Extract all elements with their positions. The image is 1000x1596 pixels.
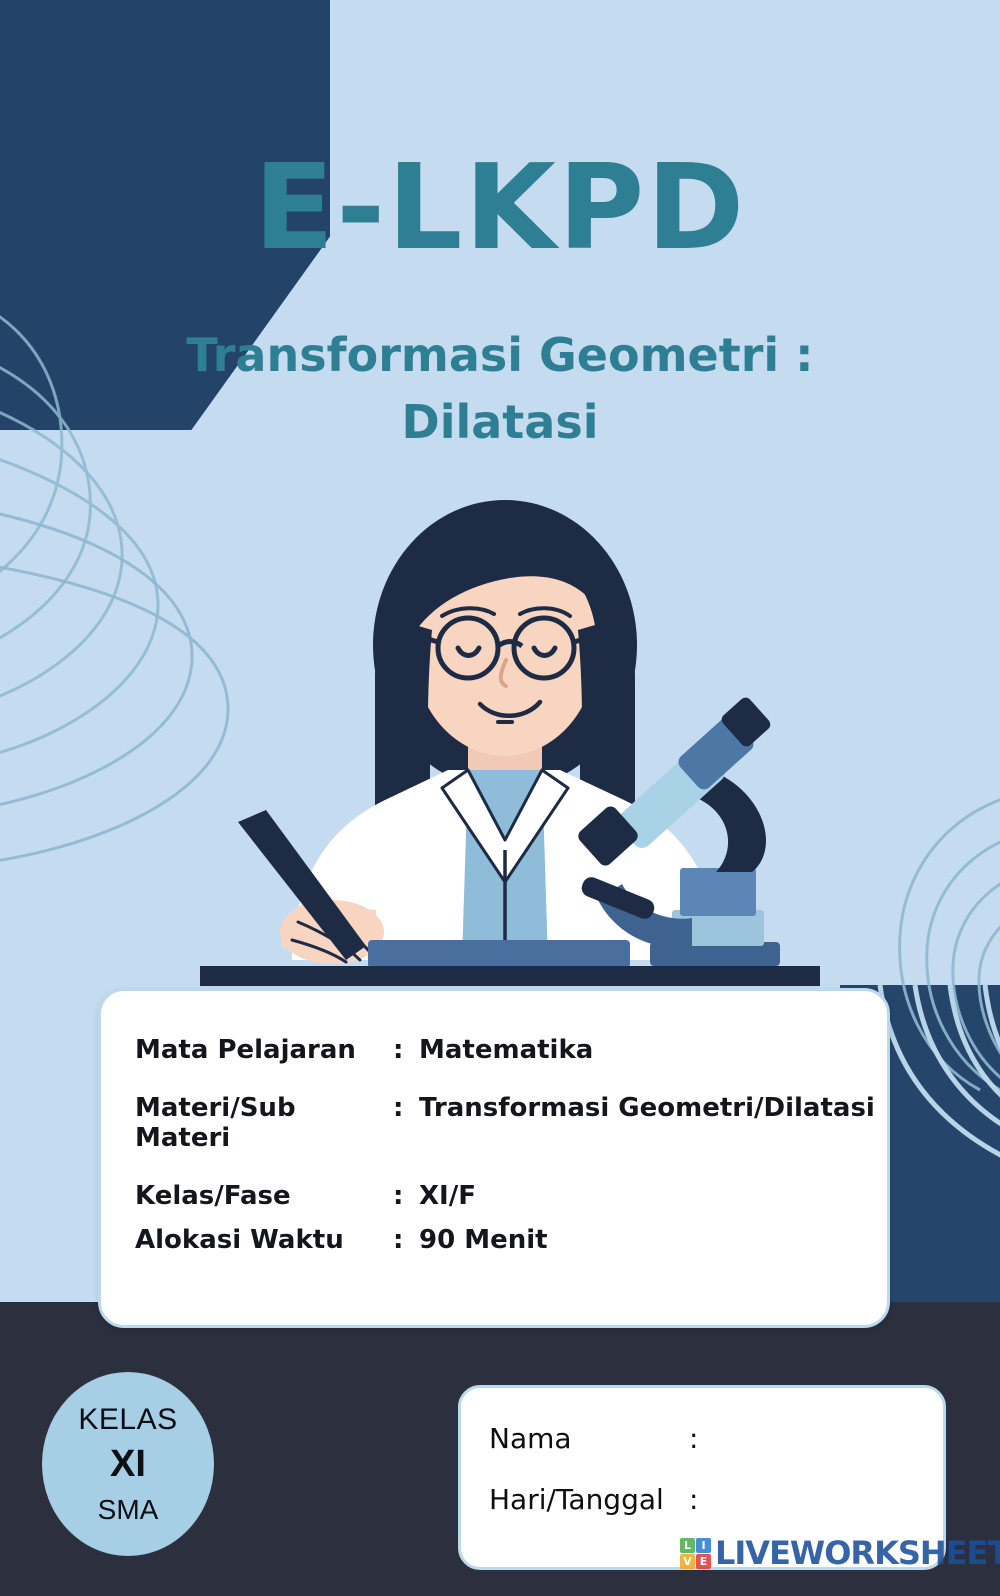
liveworksheets-watermark: L I V E LIVEWORKSHEETS xyxy=(680,1536,1000,1570)
info-row-subject: Mata Pelajaran : Matematika xyxy=(135,1035,853,1065)
info-label-class: Kelas/Fase xyxy=(135,1181,393,1211)
logo-tile-v: V xyxy=(680,1554,695,1569)
class-badge-school-type: SMA xyxy=(98,1494,159,1526)
liveworksheets-wordmark: LIVEWORKSHEETS xyxy=(715,1534,1000,1572)
student-row-name: Nama : xyxy=(489,1422,943,1455)
info-colon-duration: : xyxy=(393,1225,419,1255)
logo-tile-i: I xyxy=(696,1538,711,1553)
info-value-material: Transformasi Geometri/Dilatasi xyxy=(419,1093,875,1123)
logo-tile-e: E xyxy=(696,1554,711,1569)
class-level-badge: KELAS XI SMA xyxy=(42,1372,214,1556)
info-row-duration: Alokasi Waktu : 90 Menit xyxy=(135,1225,853,1255)
info-colon-class: : xyxy=(393,1181,419,1211)
student-label-date: Hari/Tanggal xyxy=(489,1483,689,1516)
logo-tile-l: L xyxy=(680,1538,695,1553)
info-row-class: Kelas/Fase : XI/F xyxy=(135,1181,853,1211)
info-label-material: Materi/Sub Materi xyxy=(135,1093,393,1153)
worksheet-cover-page: E-LKPD Transformasi Geometri : Dilatasi xyxy=(0,0,1000,1596)
info-colon-material: : xyxy=(393,1093,419,1123)
class-badge-top-label: KELAS xyxy=(78,1403,177,1437)
page-title: E-LKPD xyxy=(0,148,1000,266)
student-label-name: Nama xyxy=(489,1422,689,1455)
lesson-info-card: Mata Pelajaran : Matematika Materi/Sub M… xyxy=(98,988,890,1328)
student-colon-date: : xyxy=(689,1483,698,1516)
page-subtitle: Transformasi Geometri : Dilatasi xyxy=(60,322,940,455)
page-subtitle-line-2: Dilatasi xyxy=(60,389,940,456)
student-row-date: Hari/Tanggal : xyxy=(489,1483,943,1516)
liveworksheets-logo-icon: L I V E xyxy=(680,1538,711,1569)
info-colon-subject: : xyxy=(393,1035,419,1065)
info-label-duration: Alokasi Waktu xyxy=(135,1225,393,1255)
info-row-material: Materi/Sub Materi : Transformasi Geometr… xyxy=(135,1093,853,1153)
info-value-duration: 90 Menit xyxy=(419,1225,548,1255)
info-value-class: XI/F xyxy=(419,1181,476,1211)
info-label-subject: Mata Pelajaran xyxy=(135,1035,393,1065)
class-badge-level: XI xyxy=(110,1443,146,1486)
page-subtitle-line-1: Transformasi Geometri : xyxy=(60,322,940,389)
scientist-illustration xyxy=(180,470,820,990)
student-colon-name: : xyxy=(689,1422,698,1455)
info-value-subject: Matematika xyxy=(419,1035,593,1065)
